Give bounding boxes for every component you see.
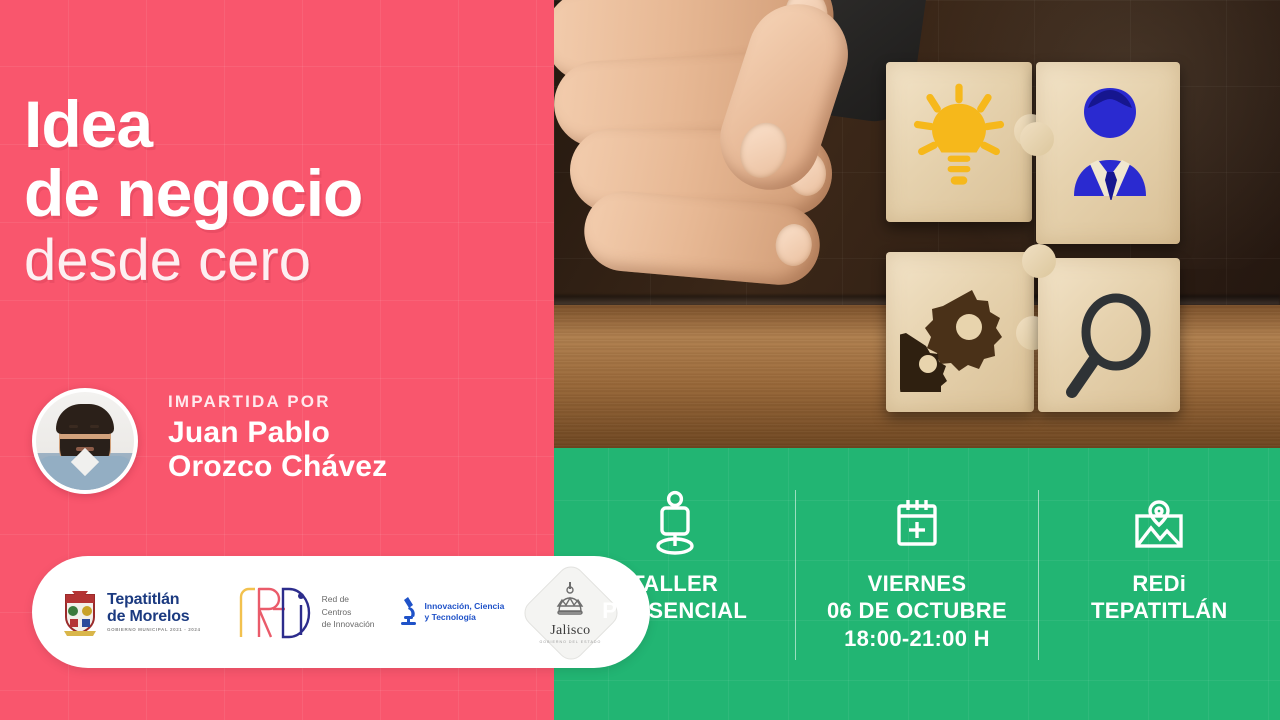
tepatitlan-line-1: Tepatitlán	[107, 592, 201, 609]
hero-photo	[554, 0, 1280, 448]
redi-tagline: Red de Centros de Innovación	[322, 593, 375, 631]
businessman-icon	[1058, 80, 1162, 200]
info-venue-line-2: TEPATITLÁN	[1091, 597, 1228, 624]
title-line-3: desde cero	[24, 233, 544, 290]
redi-line-2: Centros	[322, 606, 375, 619]
avatar-eye-right	[90, 425, 99, 428]
ict-line-1: Innovación, Ciencia	[425, 601, 505, 612]
speaker-name-line-2: Orozco Chávez	[168, 450, 387, 484]
standing-person-icon	[647, 490, 703, 556]
info-modality-line-2: PRESENCIAL	[602, 597, 747, 624]
puzzle-piece-businessman	[1036, 62, 1180, 244]
tepatitlan-coat-of-arms	[60, 587, 100, 637]
tepatitlan-subtitle: GOBIERNO MUNICIPAL 2021 - 2024	[107, 627, 201, 632]
magnifier-icon	[1060, 292, 1160, 402]
tepatitlan-line-2: de Morelos	[107, 609, 201, 626]
info-venue-text: REDi TEPATITLÁN	[1091, 570, 1228, 625]
info-column-modality: TALLER PRESENCIAL	[554, 448, 795, 625]
avatar-photo	[36, 392, 134, 490]
title-line-2: de negocio	[24, 161, 544, 226]
puzzle-piece-magnifier	[1038, 258, 1180, 412]
ict-line-2: y Tecnología	[425, 612, 505, 623]
puzzle-piece-gears	[886, 252, 1034, 412]
speaker-text: IMPARTIDA POR Juan Pablo Orozco Chávez	[168, 392, 387, 483]
lightbulb-icon	[904, 78, 1014, 198]
info-date-line-2: 06 DE OCTUBRE	[827, 597, 1007, 624]
redi-line-1: Red de	[322, 593, 375, 606]
info-modality-text: TALLER PRESENCIAL	[602, 570, 747, 625]
speaker-name-line-1: Juan Pablo	[168, 416, 387, 450]
event-flyer: Idea de negocio desde cero IMPARTIDA POR…	[0, 0, 1280, 720]
logo-innovacion-ciencia-tecnologia: Innovación, Ciencia y Tecnología	[397, 594, 505, 630]
info-column-venue: REDi TEPATITLÁN	[1039, 448, 1280, 625]
avatar	[32, 388, 138, 494]
event-details-bar: TALLER PRESENCIAL	[554, 448, 1280, 720]
info-date-text: VIERNES 06 DE OCTUBRE 18:00-21:00 H	[827, 570, 1007, 652]
puzzle-knob	[1020, 122, 1054, 156]
title-line-1: Idea	[24, 92, 544, 157]
info-date-line-3: 18:00-21:00 H	[827, 625, 1007, 652]
info-modality-line-1: TALLER	[602, 570, 747, 597]
page-title: Idea de negocio desde cero	[24, 92, 544, 290]
map-location-icon	[1129, 490, 1189, 556]
info-venue-line-1: REDi	[1091, 570, 1228, 597]
gears-icon	[900, 282, 1020, 392]
thumbnail	[733, 117, 794, 184]
ict-wordmark: Innovación, Ciencia y Tecnología	[425, 601, 505, 622]
avatar-eye-left	[69, 425, 78, 428]
info-date-line-1: VIERNES	[827, 570, 1007, 597]
fingernail	[774, 223, 814, 268]
logo-redi: Red de Centros de Innovación	[227, 583, 375, 641]
puzzle-pieces-group	[886, 62, 1186, 412]
puzzle-knob	[1022, 244, 1056, 278]
redi-logo	[227, 583, 313, 641]
tepatitlan-wordmark: Tepatitlán de Morelos GOBIERNO MUNICIPAL…	[107, 592, 201, 632]
info-column-date: VIERNES 06 DE OCTUBRE 18:00-21:00 H	[796, 448, 1037, 652]
puzzle-piece-lightbulb	[886, 62, 1032, 222]
redi-line-3: de Innovación	[322, 618, 375, 631]
speaker-block: IMPARTIDA POR Juan Pablo Orozco Chávez	[32, 386, 532, 516]
microscope-icon	[397, 594, 419, 630]
speaker-by-label: IMPARTIDA POR	[168, 392, 387, 412]
calendar-plus-icon	[889, 490, 945, 556]
avatar-hair	[56, 404, 114, 434]
logo-tepatitlan: Tepatitlán de Morelos GOBIERNO MUNICIPAL…	[60, 587, 201, 637]
